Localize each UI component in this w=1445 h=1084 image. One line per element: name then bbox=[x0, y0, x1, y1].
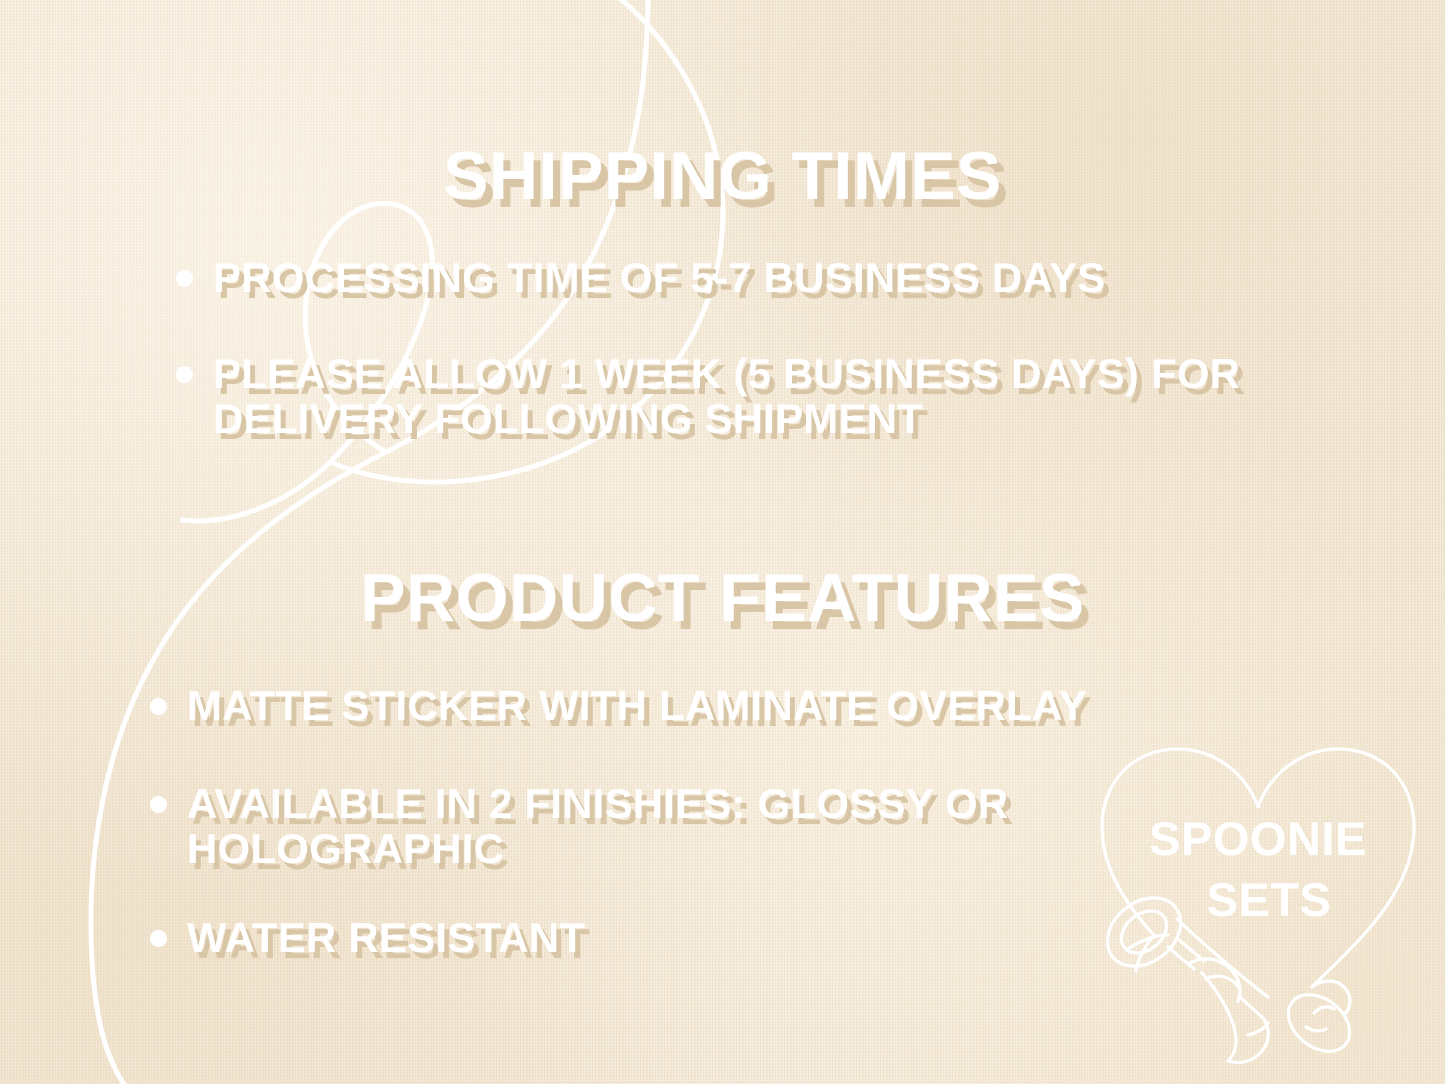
bullet-text-water-resistant: WATER RESISTANT bbox=[187, 916, 585, 961]
list-item: MATTE STICKER WITH LAMINATE OVERLAY bbox=[150, 684, 1330, 729]
logo-text-spoonie: SPOONIE bbox=[1082, 815, 1434, 862]
bullet-text-finishes: AVAILABLE IN 2 FINISHIES: GLOSSY OR HOLO… bbox=[187, 782, 1150, 871]
bullet-dot-icon bbox=[176, 366, 193, 383]
bullet-text-matte-sticker: MATTE STICKER WITH LAMINATE OVERLAY bbox=[187, 684, 1087, 729]
list-item: PLEASE ALLOW 1 WEEK (5 BUSINESS DAYS) FO… bbox=[176, 352, 1386, 441]
list-item: PROCESSING TIME OF 5-7 BUSINESS DAYS bbox=[176, 256, 1356, 301]
bullet-text-processing-time: PROCESSING TIME OF 5-7 BUSINESS DAYS bbox=[213, 256, 1106, 301]
bullet-dot-icon bbox=[150, 930, 167, 947]
bullet-dot-icon bbox=[150, 796, 167, 813]
bullet-text-delivery-window: PLEASE ALLOW 1 WEEK (5 BUSINESS DAYS) FO… bbox=[213, 352, 1386, 441]
shipping-times-heading: SHIPPING TIMES bbox=[0, 142, 1445, 210]
product-features-heading: PRODUCT FEATURES bbox=[0, 564, 1445, 632]
list-item: AVAILABLE IN 2 FINISHIES: GLOSSY OR HOLO… bbox=[150, 782, 1150, 871]
list-item: WATER RESISTANT bbox=[150, 916, 850, 961]
poster-canvas: SHIPPING TIMES PROCESSING TIME OF 5-7 BU… bbox=[0, 0, 1445, 1084]
bullet-dot-icon bbox=[150, 698, 167, 715]
bullet-dot-icon bbox=[176, 270, 193, 287]
brand-logo: SPOONIE SETS bbox=[1082, 735, 1434, 1075]
logo-text-sets: SETS bbox=[1082, 876, 1434, 923]
